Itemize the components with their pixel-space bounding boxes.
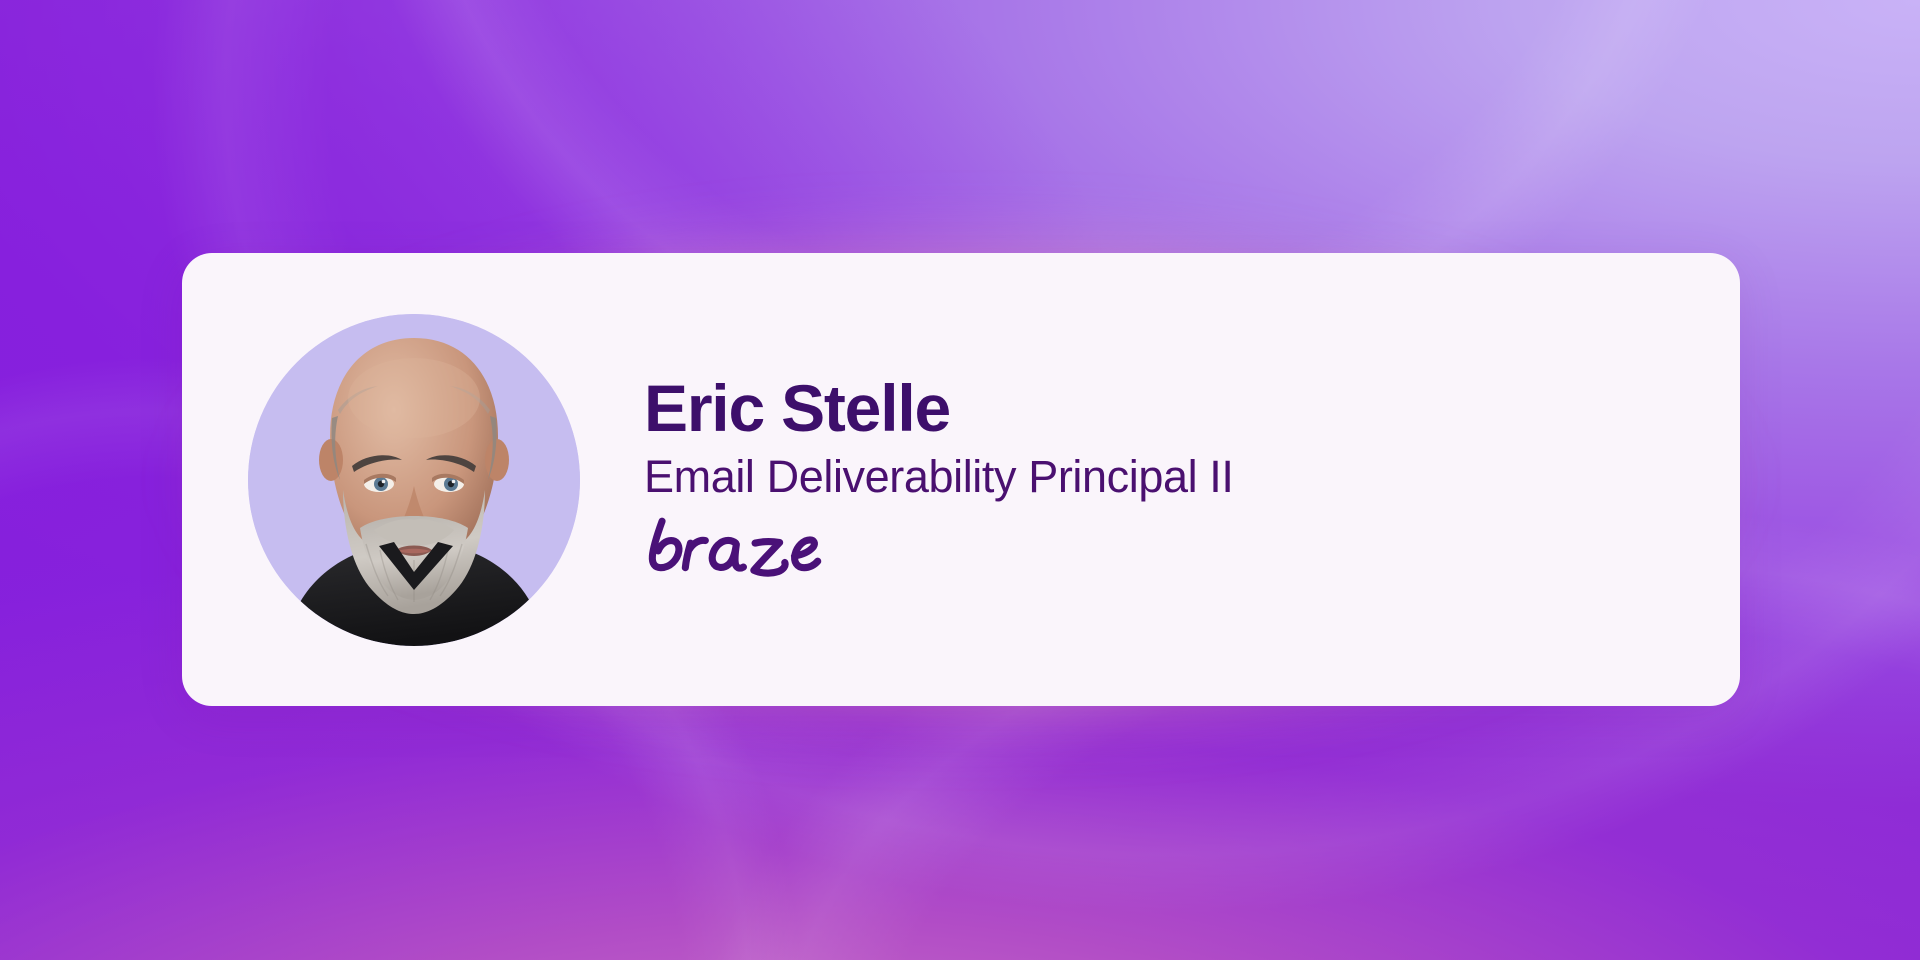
avatar: Portrait of Eric Stelle bbox=[248, 314, 580, 646]
braze-wordmark-icon bbox=[644, 516, 838, 578]
avatar-alt-text: Portrait of Eric Stelle bbox=[248, 314, 249, 315]
speaker-identity: Eric Stelle Email Deliverability Princip… bbox=[644, 375, 1234, 585]
person-name: Eric Stelle bbox=[644, 375, 1234, 442]
braze-logo: braze bbox=[644, 516, 1234, 578]
speaker-card: Portrait of Eric Stelle bbox=[182, 253, 1740, 706]
avatar-portrait-icon bbox=[248, 314, 580, 646]
person-title: Email Deliverability Principal II bbox=[644, 452, 1234, 502]
